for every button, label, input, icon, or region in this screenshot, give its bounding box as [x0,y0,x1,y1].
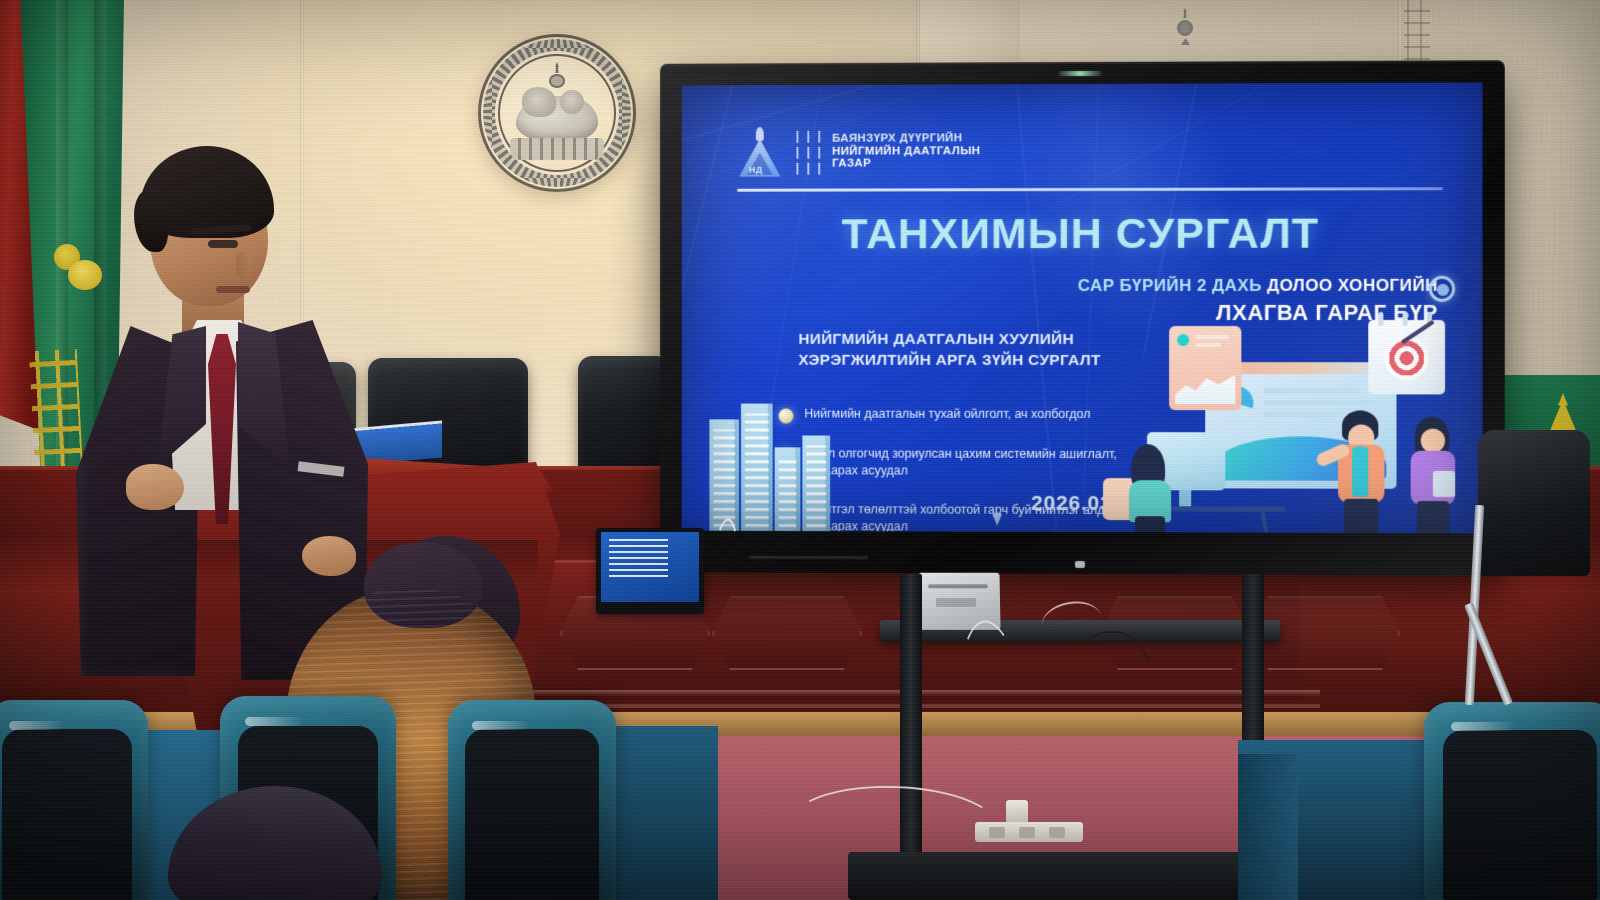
display-screen[interactable]: НД БАЯНЗҮРХ ДҮҮРГИЙН НИЙГМИЙН ДААТГАЛЫН … [682,82,1483,533]
screenshot-scene: НД БАЯНЗҮРХ ДҮҮРГИЙН НИЙГМИЙН ДААТГАЛЫН … [0,0,1600,900]
logo-line-3: ГАЗАР [832,158,980,171]
power-strip[interactable] [975,822,1083,842]
slide-heading: НИЙГМИЙН ДААТГАЛЫН ХУУЛИЙН ХЭРЭГЖИЛТИЙН … [798,330,1127,372]
slide-title: ТАНХИМЫН СУРГАЛТ [682,209,1483,259]
slide-subtitle: САР БҮРИЙН 2 ДАХЬ ДОЛОО ХОНОГИЙН ЛХАГВА … [979,276,1438,326]
bullet-text: Ажил олгогчид зориулсан цахим системийн … [804,445,1137,479]
audience-chair [0,700,148,900]
city-buildings-icon [703,399,834,531]
presenter-hand-left [126,464,184,510]
subtitle-hard-part: ДОЛОО ХОНОГИЙН [1267,276,1438,295]
desk-rail [420,690,1320,696]
logo-line-2: НИЙГМИЙН ДААТГАЛЫН [832,145,980,158]
logo-mark-letters: НД [749,165,773,175]
side-chair [1478,430,1590,576]
subtitle-soft-part: САР БҮРИЙН 2 ДАХЬ [1078,276,1262,295]
ger-logo-icon: НД [737,127,783,177]
audience-chair-right [1424,702,1600,900]
display-ir-sensor-icon [1075,561,1085,568]
presenter-hair [140,146,274,238]
emblem-lion-icon [516,96,598,142]
illustration-calendar-target [1368,320,1445,394]
mongol-script-icon [792,129,822,175]
emblem-lotus-base [510,138,604,160]
state-emblem [478,34,636,192]
logo-line-1: БАЯНЗҮРХ ДҮҮРГИЙН [832,132,980,145]
illustration-person-standing [1405,417,1464,534]
display-brand-strip [749,556,868,559]
illustration-person-presenting [1330,410,1397,533]
presentation-slide: НД БАЯНЗҮРХ ДҮҮРГИЙН НИЙГМИЙН ДААТГАЛЫН … [682,82,1483,533]
audience-chair [448,700,616,900]
soyombo-icon [1172,8,1198,52]
loading-ring-cursor-icon [1429,276,1455,302]
illustration-person-seated [1125,444,1177,533]
mouse-pointer-icon [992,514,1002,526]
illustration-chart-card [1169,326,1241,410]
bullet-text: Нийгмийн даатгалын тухай ойлголт, ач хол… [804,406,1090,424]
wall-display[interactable]: НД БАЯНЗҮРХ ДҮҮРГИЙН НИЙГМИЙН ДААТГАЛЫН … [660,60,1505,576]
display-led-indicator [1058,71,1102,76]
audience-desk [598,726,718,900]
stage-chair [578,356,670,478]
team-dashboard-illustration [1131,320,1463,533]
power-adapter [1006,800,1028,824]
presenter-hand-right [302,536,356,576]
organization-logo: НД БАЯНЗҮРХ ДҮҮРГИЙН НИЙГМИЙН ДААТГАЛЫН … [737,126,980,176]
desk-monitor [596,528,704,614]
